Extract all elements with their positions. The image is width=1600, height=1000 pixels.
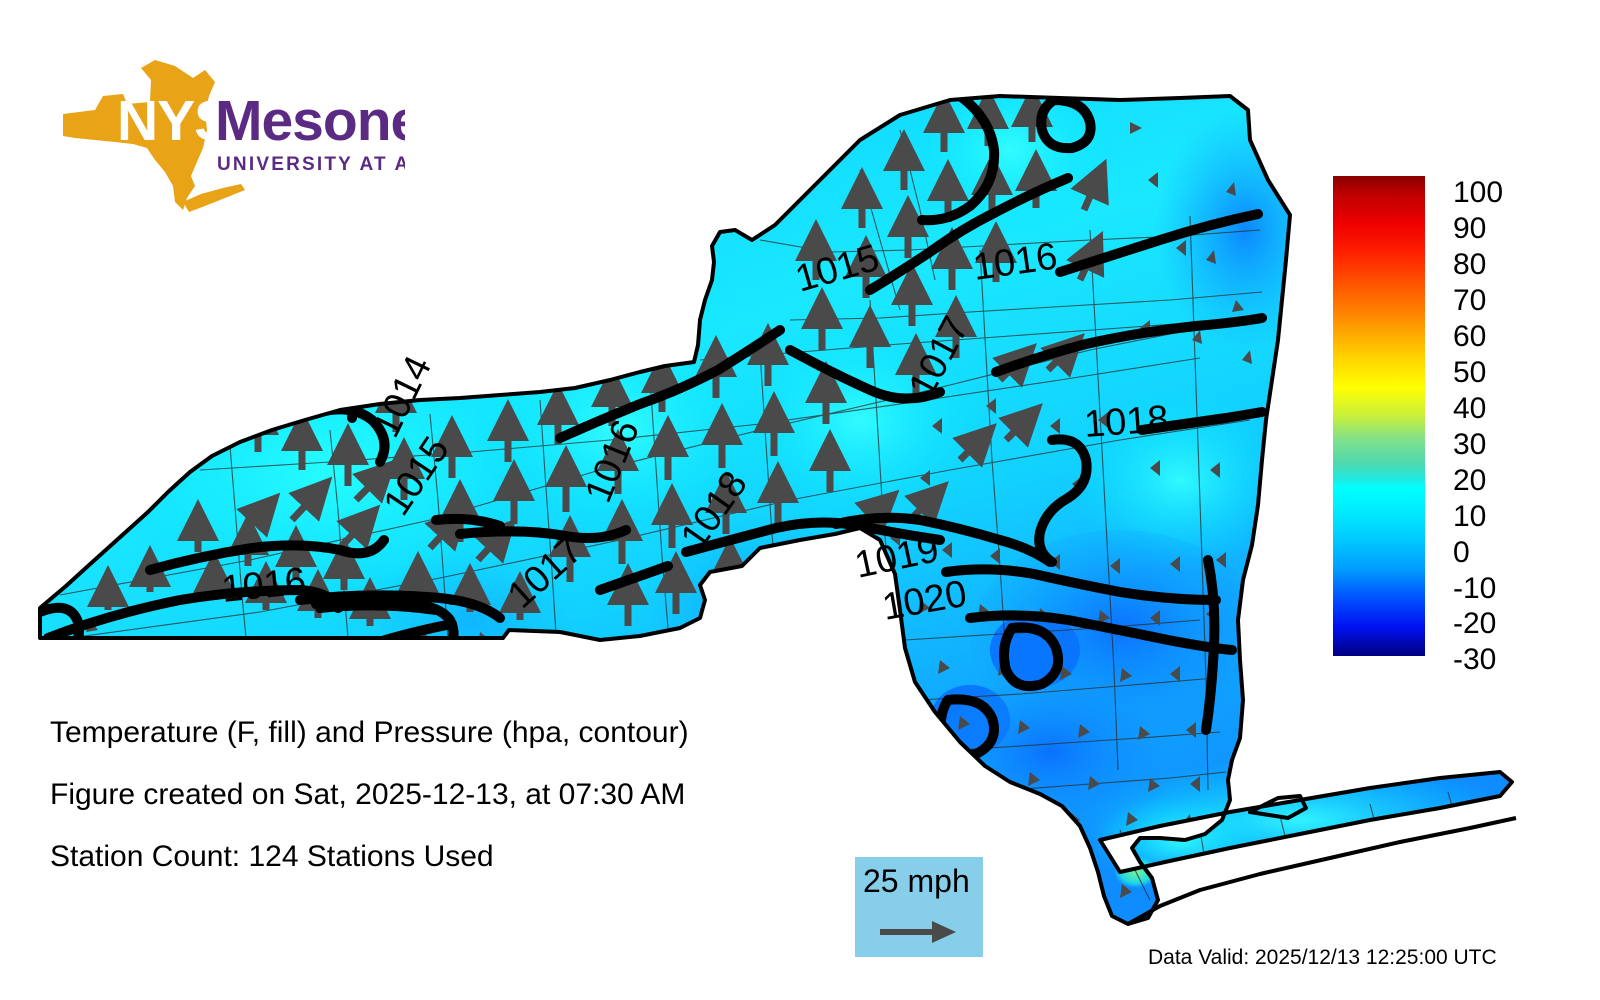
colorbar-tick-50: 50	[1453, 358, 1486, 388]
colorbar-tick-40: 40	[1453, 394, 1486, 424]
logo-mesonet-text: Mesonet	[215, 89, 405, 153]
colorbar-tick-10: 10	[1453, 502, 1486, 532]
contour-label-1018: 1018	[1083, 398, 1170, 446]
caption-created: Figure created on Sat, 2025-12-13, at 07…	[50, 778, 810, 812]
logo-subtitle-text: UNIVERSITY AT ALBANY	[217, 154, 405, 175]
colorbar-gradient	[1333, 176, 1425, 656]
colorbar-tick-20: 20	[1453, 466, 1486, 496]
wind-scale-legend: 25 mph	[855, 857, 983, 957]
colorbar-tick--10: -10	[1453, 574, 1496, 604]
caption-station-count: Station Count: 124 Stations Used	[50, 840, 810, 874]
colorbar-tick-60: 60	[1453, 322, 1486, 352]
contour-label-1016: 1016	[220, 560, 308, 611]
nys-mesonet-logo: NYS Mesonet UNIVERSITY AT ALBANY	[55, 52, 405, 227]
colorbar-tick-100: 100	[1453, 178, 1503, 208]
colorbar-tick-80: 80	[1453, 250, 1486, 280]
caption-block: Temperature (F, fill) and Pressure (hpa,…	[50, 716, 810, 902]
colorbar-tick--30: -30	[1453, 645, 1496, 675]
colorbar-tick-30: 30	[1453, 430, 1486, 460]
temperature-colorbar: 1009080706050403020100-10-20-30	[1333, 176, 1493, 658]
data-valid-timestamp: Data Valid: 2025/12/13 12:25:00 UTC	[1148, 946, 1497, 970]
colorbar-tick-70: 70	[1453, 286, 1486, 316]
colorbar-tick-0: 0	[1453, 538, 1470, 568]
wind-scale-label: 25 mph	[863, 863, 970, 900]
wind-scale-arrow-icon	[880, 917, 960, 952]
colorbar-tick--20: -20	[1453, 609, 1496, 639]
caption-title: Temperature (F, fill) and Pressure (hpa,…	[50, 716, 810, 750]
colorbar-tick-90: 90	[1453, 214, 1486, 244]
